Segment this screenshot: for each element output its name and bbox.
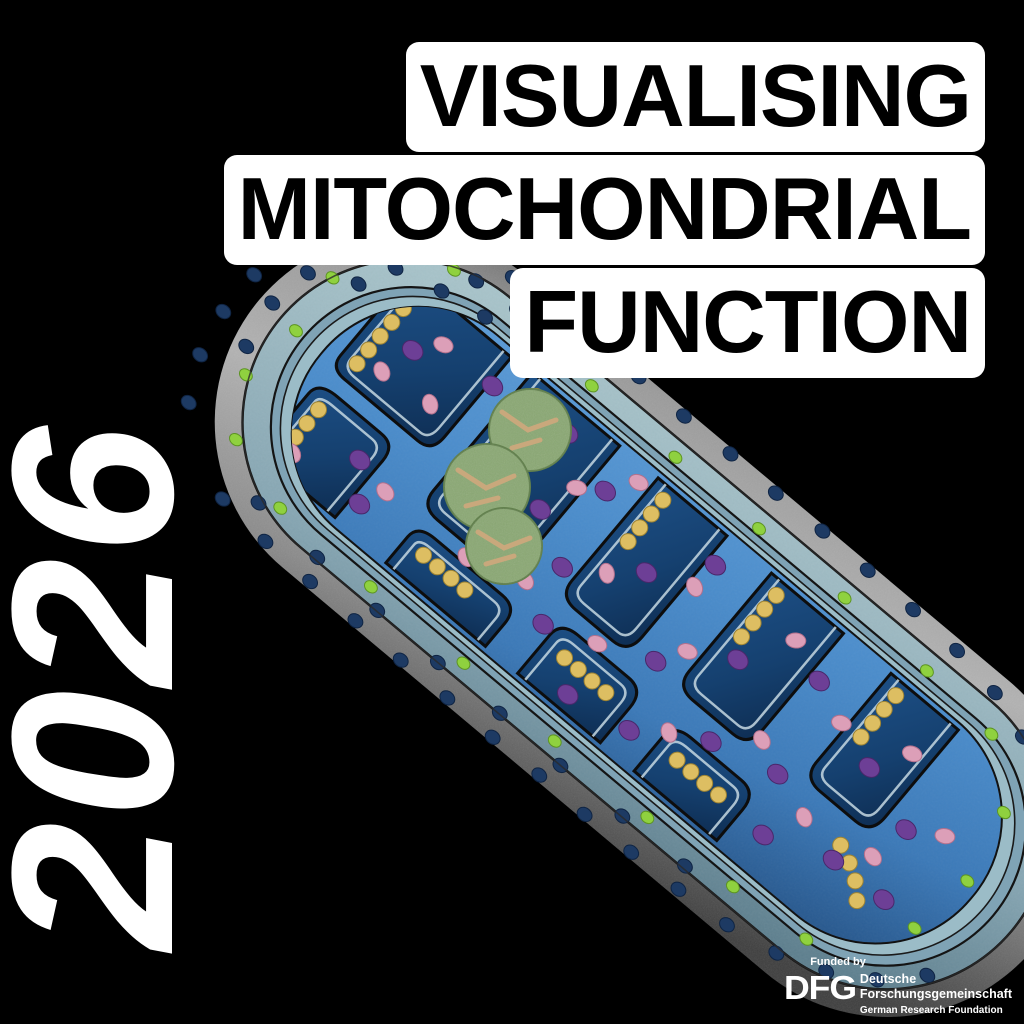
title-line-mitochondrial: MITOCHONDRIAL (224, 155, 985, 265)
dfg-name-line-1: Deutsche (860, 972, 1012, 987)
dfg-name-line-2: Forschungsgemeinschaft (860, 987, 1012, 1002)
funded-by-label: Funded by (810, 956, 866, 969)
year-label: 2026 (0, 480, 208, 950)
poster-canvas: VISUALISING MITOCHONDRIAL FUNCTION 2026 … (0, 0, 1024, 1024)
funder-logo: Funded by DFG Deutsche Forschungsgemeins… (784, 956, 1012, 1018)
dfg-logo-row: DFG Deutsche Forschungsgemeinschaft Germ… (784, 971, 1012, 1018)
title-line-function: FUNCTION (510, 268, 985, 378)
mitoribosome (466, 508, 542, 584)
dfg-name-english: German Research Foundation (860, 1004, 1012, 1018)
title-line-visualising: VISUALISING (406, 42, 985, 152)
dfg-organisation-names: Deutsche Forschungsgemeinschaft German R… (860, 971, 1012, 1018)
dfg-wordmark: DFG (784, 971, 856, 1004)
